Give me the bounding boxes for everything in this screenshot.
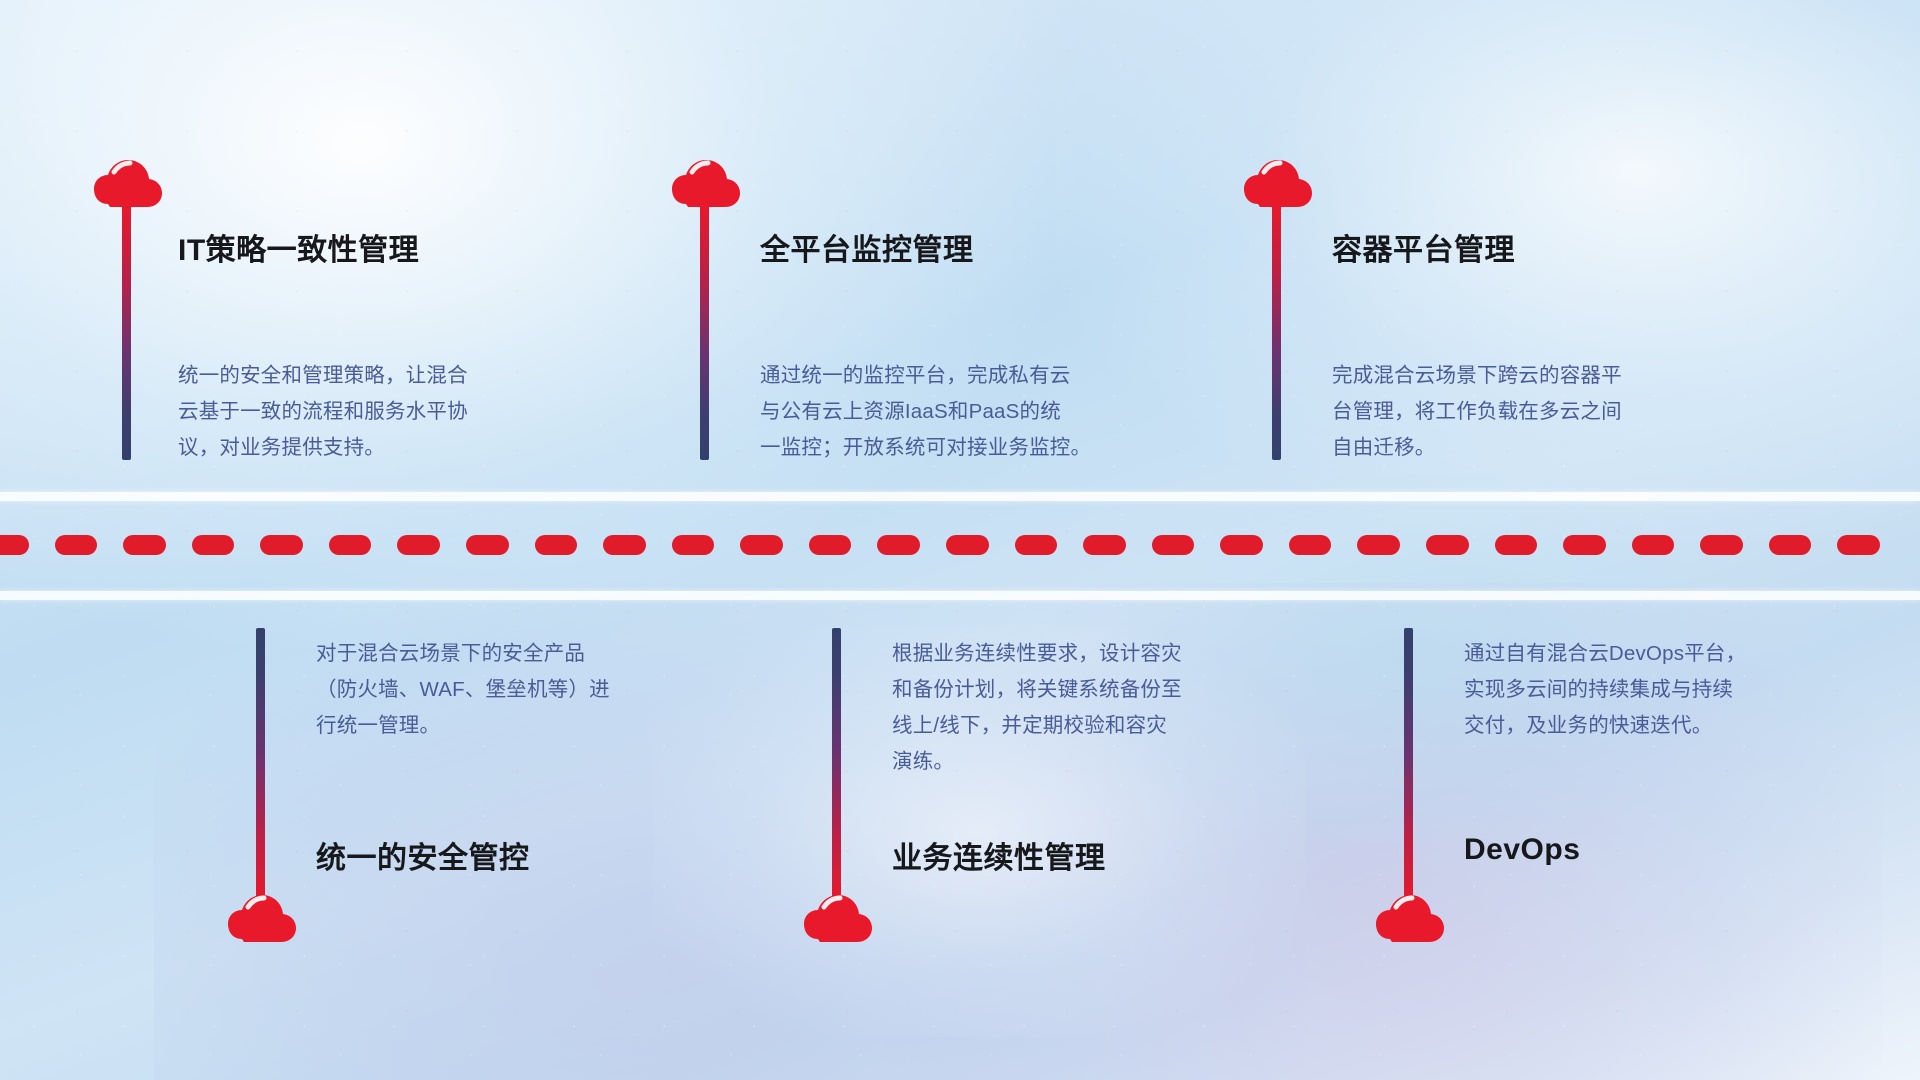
- divider-dash: [535, 535, 578, 555]
- divider-dash: [1015, 535, 1058, 555]
- divider-dash: [192, 535, 235, 555]
- divider-dash: [1495, 535, 1538, 555]
- cloud-pin-icon: [804, 895, 874, 949]
- description-line: 完成混合云场景下跨云的容器平: [1332, 358, 1762, 394]
- divider-band: [0, 492, 1920, 600]
- description-line: 交付，及业务的快速迭代。: [1464, 708, 1894, 744]
- section-title: DevOps: [1464, 833, 1580, 867]
- timeline-stem: [832, 628, 841, 903]
- divider-dash: [809, 535, 852, 555]
- divider-dash: [1152, 535, 1195, 555]
- divider-dash: [1357, 535, 1400, 555]
- timeline-stem: [122, 205, 131, 460]
- timeline-stem: [700, 205, 709, 460]
- divider-rule-bottom: [0, 591, 1920, 600]
- divider-dash: [603, 535, 646, 555]
- section-description: 完成混合云场景下跨云的容器平 台管理，将工作负载在多云之间 自由迁移。: [1332, 358, 1762, 466]
- description-line: 对于混合云场景下的安全产品: [316, 636, 746, 672]
- divider-dash: [1083, 535, 1126, 555]
- divider-dash: [0, 535, 29, 555]
- divider-dash: [1289, 535, 1332, 555]
- cloud-pin-icon: [1376, 895, 1446, 949]
- section-description: 根据业务连续性要求，设计容灾 和备份计划，将关键系统备份至 线上/线下，并定期校…: [892, 636, 1322, 780]
- divider-dash: [1700, 535, 1743, 555]
- description-line: 通过统一的监控平台，完成私有云: [760, 358, 1190, 394]
- description-line: 行统一管理。: [316, 708, 746, 744]
- divider-dash: [740, 535, 783, 555]
- section-title: 统一的安全管控: [316, 833, 530, 877]
- timeline-stem: [1272, 205, 1281, 460]
- description-line: 实现多云间的持续集成与持续: [1464, 672, 1894, 708]
- section-title: 全平台监控管理: [760, 225, 974, 269]
- description-line: 与公有云上资源IaaS和PaaS的统: [760, 394, 1190, 430]
- description-line: 通过自有混合云DevOps平台，: [1464, 636, 1894, 672]
- description-line: 根据业务连续性要求，设计容灾: [892, 636, 1322, 672]
- description-line: 自由迁移。: [1332, 430, 1762, 466]
- description-line: 线上/线下，并定期校验和容灾: [892, 708, 1322, 744]
- divider-dash: [946, 535, 989, 555]
- description-line: 演练。: [892, 744, 1322, 780]
- divider-dash: [1769, 535, 1812, 555]
- section-title: 容器平台管理: [1332, 225, 1515, 269]
- divider-dash: [55, 535, 98, 555]
- divider-dash: [466, 535, 509, 555]
- divider-dash: [260, 535, 303, 555]
- description-line: 议，对业务提供支持。: [178, 430, 608, 466]
- divider-dash: [1837, 535, 1880, 555]
- description-line: （防火墙、WAF、堡垒机等）进: [316, 672, 746, 708]
- divider-dash: [397, 535, 440, 555]
- section-description: 统一的安全和管理策略，让混合 云基于一致的流程和服务水平协 议，对业务提供支持。: [178, 358, 608, 466]
- section-description: 对于混合云场景下的安全产品 （防火墙、WAF、堡垒机等）进 行统一管理。: [316, 636, 746, 744]
- description-line: 台管理，将工作负载在多云之间: [1332, 394, 1762, 430]
- description-line: 一监控；开放系统可对接业务监控。: [760, 430, 1190, 466]
- description-line: 统一的安全和管理策略，让混合: [178, 358, 608, 394]
- section-description: 通过统一的监控平台，完成私有云 与公有云上资源IaaS和PaaS的统 一监控；开…: [760, 358, 1190, 466]
- divider-dash: [1220, 535, 1263, 555]
- divider-dash: [672, 535, 715, 555]
- divider-rule-top: [0, 492, 1920, 501]
- description-line: 云基于一致的流程和服务水平协: [178, 394, 608, 430]
- divider-dash: [1563, 535, 1606, 555]
- timeline-stem: [1404, 628, 1413, 903]
- divider-dash: [1426, 535, 1469, 555]
- divider-dash: [123, 535, 166, 555]
- divider-dash: [1632, 535, 1675, 555]
- description-line: 和备份计划，将关键系统备份至: [892, 672, 1322, 708]
- infographic-canvas: IT策略一致性管理 统一的安全和管理策略，让混合 云基于一致的流程和服务水平协 …: [0, 0, 1920, 1080]
- section-title: 业务连续性管理: [892, 833, 1106, 877]
- section-description: 通过自有混合云DevOps平台， 实现多云间的持续集成与持续 交付，及业务的快速…: [1464, 636, 1894, 744]
- divider-dash: [877, 535, 920, 555]
- divider-dash: [329, 535, 372, 555]
- divider-dashed-line: [0, 535, 1920, 555]
- cloud-pin-icon: [228, 895, 298, 949]
- timeline-stem: [256, 628, 265, 903]
- section-title: IT策略一致性管理: [178, 225, 419, 269]
